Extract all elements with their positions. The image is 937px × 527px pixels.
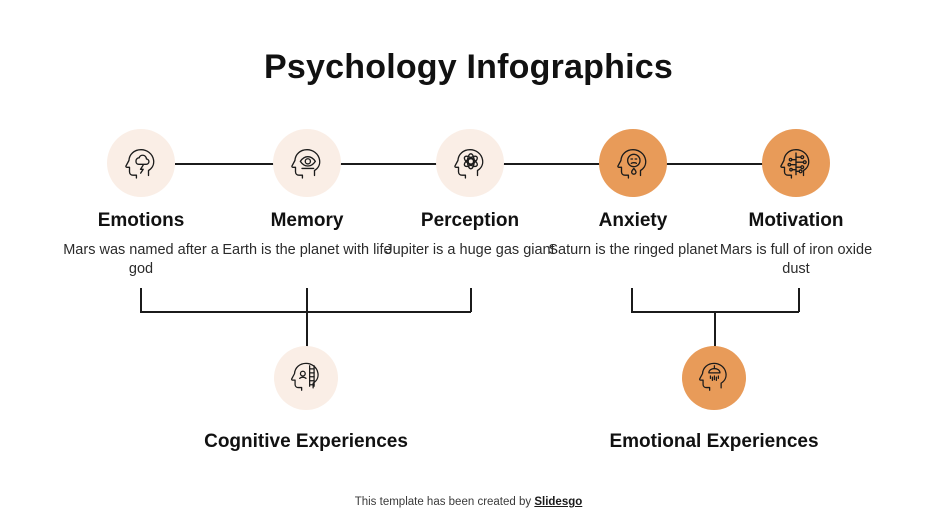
motivation-title: Motivation bbox=[711, 211, 881, 232]
node-perception[interactable]: Perception Jupiter is a huge gas giant bbox=[385, 129, 555, 260]
head-atom-icon bbox=[450, 143, 490, 183]
head-circuit-icon bbox=[776, 143, 816, 183]
infographic-slide: Psychology Infographics Emotions Mars wa… bbox=[0, 0, 937, 527]
perception-desc: Jupiter is a huge gas giant bbox=[385, 241, 555, 261]
head-worried-face-icon bbox=[613, 143, 653, 183]
emotional-circle bbox=[682, 346, 746, 410]
anxiety-desc: Saturn is the ringed planet bbox=[548, 241, 718, 261]
emotional-title: Emotional Experiences bbox=[504, 431, 924, 453]
perception-circle bbox=[436, 129, 504, 197]
memory-title: Memory bbox=[222, 211, 392, 232]
memory-circle bbox=[273, 129, 341, 197]
memory-desc: Earth is the planet with life bbox=[222, 241, 392, 261]
slidesgo-link[interactable]: Slidesgo bbox=[534, 496, 582, 508]
bracket-cognitive-right-drop bbox=[470, 288, 472, 312]
group-cognitive[interactable]: Cognitive Experiences bbox=[274, 346, 338, 410]
emotions-title: Emotions bbox=[56, 211, 226, 232]
node-anxiety[interactable]: Anxiety Saturn is the ringed planet bbox=[548, 129, 718, 260]
head-ladder-icon bbox=[287, 357, 325, 400]
motivation-circle bbox=[762, 129, 830, 197]
head-eye-icon bbox=[287, 143, 327, 183]
bracket-emotional-left-drop bbox=[631, 288, 633, 312]
perception-title: Perception bbox=[385, 211, 555, 232]
bracket-emotional-right-drop bbox=[798, 288, 800, 312]
cognitive-title: Cognitive Experiences bbox=[96, 431, 516, 453]
cognitive-circle bbox=[274, 346, 338, 410]
emotions-circle bbox=[107, 129, 175, 197]
page-title: Psychology Infographics bbox=[0, 48, 937, 87]
node-emotions[interactable]: Emotions Mars was named after a god bbox=[56, 129, 226, 280]
head-shower-icon bbox=[695, 357, 733, 400]
group-emotional[interactable]: Emotional Experiences bbox=[682, 346, 746, 410]
emotions-desc: Mars was named after a god bbox=[56, 241, 226, 280]
anxiety-title: Anxiety bbox=[548, 211, 718, 232]
motivation-desc: Mars is full of iron oxide dust bbox=[711, 241, 881, 280]
node-memory[interactable]: Memory Earth is the planet with life bbox=[222, 129, 392, 260]
footer-credit: This template has been created by Slides… bbox=[0, 496, 937, 508]
anxiety-circle bbox=[599, 129, 667, 197]
footer-text: This template has been created by bbox=[355, 496, 535, 508]
node-motivation[interactable]: Motivation Mars is full of iron oxide du… bbox=[711, 129, 881, 280]
bracket-cognitive-center-stem bbox=[306, 288, 308, 352]
head-cloud-lightning-icon bbox=[121, 143, 161, 183]
bracket-cognitive-left-drop bbox=[140, 288, 142, 312]
